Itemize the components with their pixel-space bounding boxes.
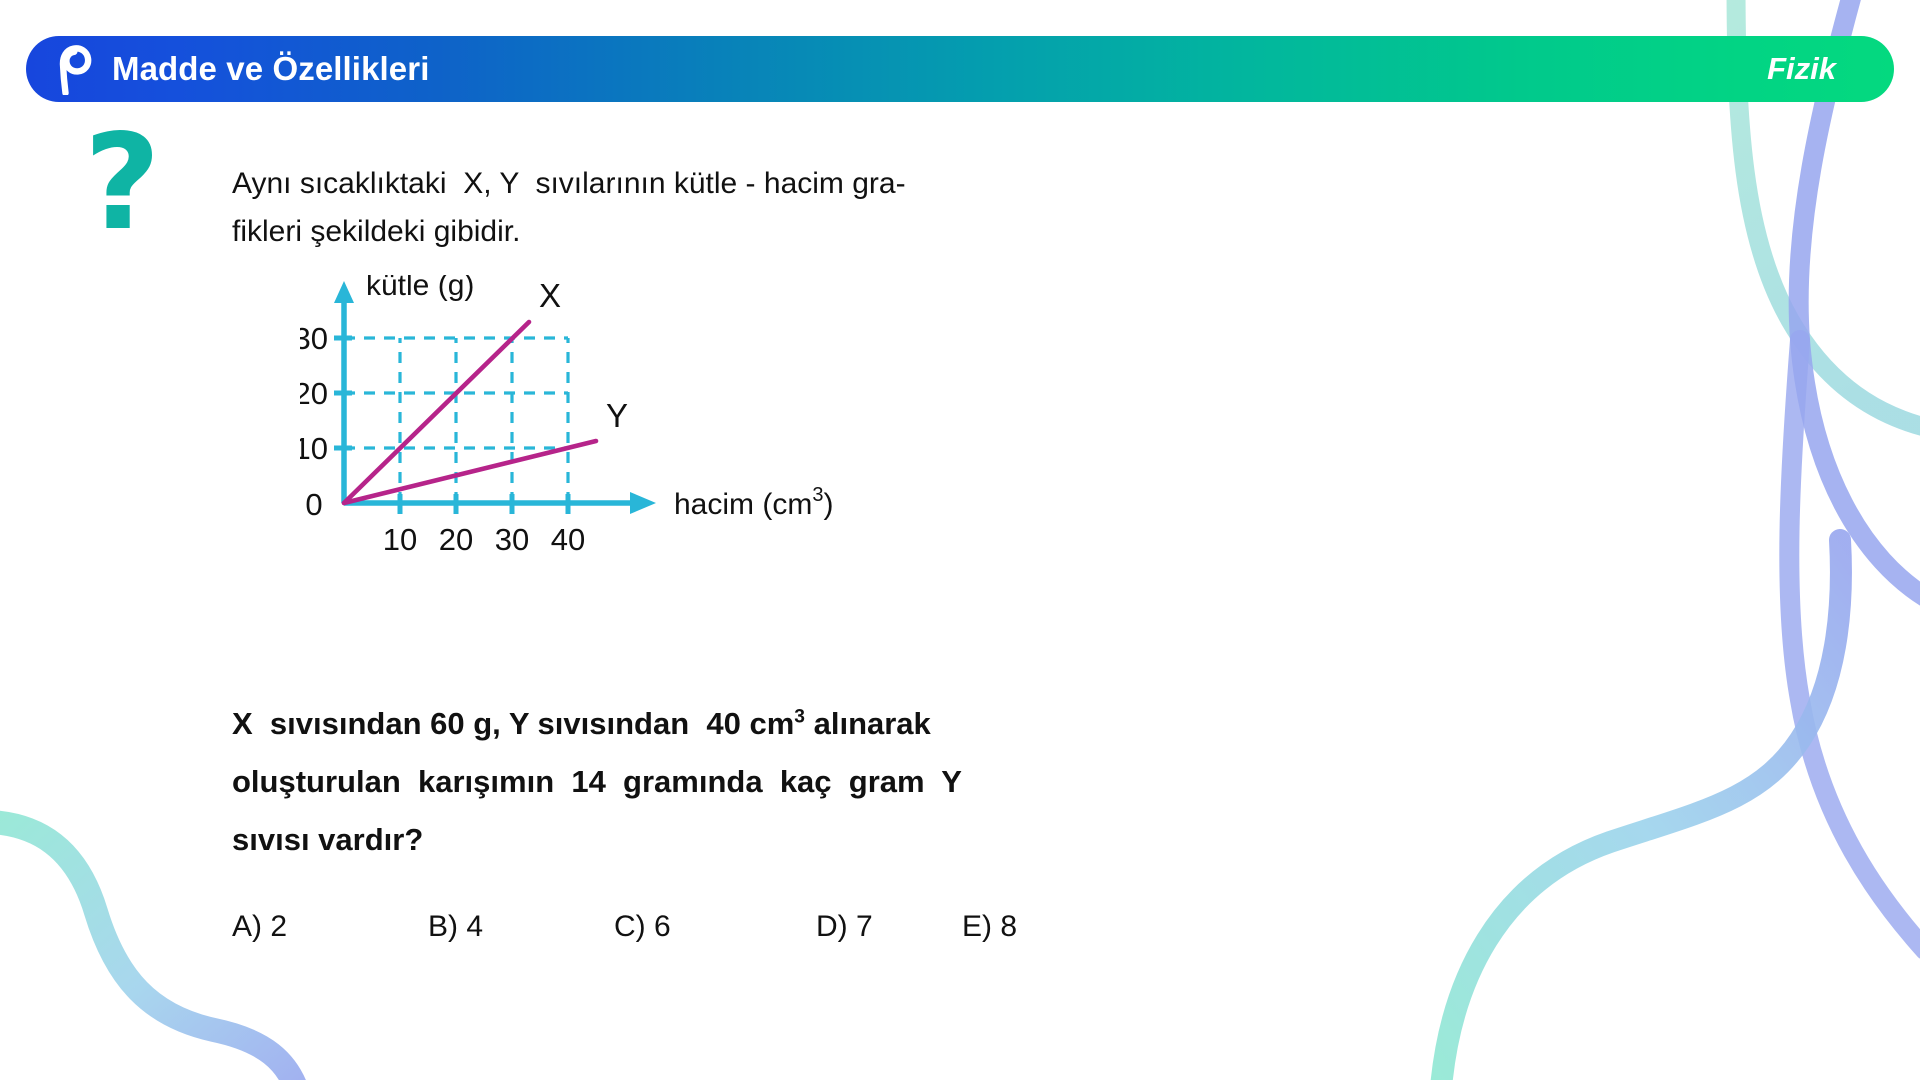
option-d[interactable]: D) 7 (816, 910, 873, 944)
question-intro: Aynı sıcaklıktaki X, Y sıvılarının kütle… (232, 160, 1192, 256)
chart-x-axis (344, 492, 656, 514)
question-body: X sıvısından 60 g, Y sıvısından 40 cm3 a… (232, 695, 1232, 869)
question-line-3: sıvısı vardır? (232, 811, 1232, 869)
question-line-1: X sıvısından 60 g, Y sıvısından 40 cm3 a… (232, 695, 1232, 753)
topic-header-bar: Madde ve Özellikleri Fizik (26, 36, 1894, 102)
chart-line-x (344, 322, 529, 503)
question-mark-icon: ? (84, 128, 174, 268)
chart-canvas: kütle (g) hacim (cm3) 0 10 20 30 10 20 3… (300, 275, 1020, 675)
option-a[interactable]: A) 2 (232, 910, 287, 944)
answer-options: A) 2 B) 4 C) 6 D) 7 E) 8 (232, 910, 1232, 960)
question-line-1-superscript: 3 (794, 707, 805, 728)
decor-curve-bottom-right (1440, 540, 1841, 1080)
chart-xtick-label-20: 20 (439, 522, 473, 557)
chart-ytick-label-10: 10 (300, 431, 328, 466)
question-slide: Madde ve Özellikleri Fizik ? Aynı sıcakl… (0, 0, 1920, 1080)
mass-volume-graph: kütle (g) hacim (cm3) 0 10 20 30 10 20 3… (300, 275, 1020, 675)
decor-curve-right-long (1789, 340, 1920, 950)
question-line-2: oluşturulan karışımın 14 gramında kaç gr… (232, 753, 1232, 811)
chart-xlabel-sup: 3 (812, 484, 823, 506)
chart-series-label-x: X (539, 277, 561, 314)
option-b[interactable]: B) 4 (428, 910, 483, 944)
intro-line-2: fikleri şekildeki gibidir. (232, 208, 1192, 256)
chart-xtick-labels: 10 20 30 40 (383, 522, 585, 557)
chart-xlabel-base: hacim (cm (674, 488, 812, 521)
chart-xtick-label-10: 10 (383, 522, 417, 557)
chart-xlabel: hacim (cm3) (674, 484, 833, 521)
brand-logo[interactable] (26, 43, 112, 95)
option-c[interactable]: C) 6 (614, 910, 671, 944)
subject-badge: Fizik (1767, 51, 1836, 87)
intro-line-1: Aynı sıcaklıktaki X, Y sıvılarının kütle… (232, 160, 1192, 208)
p-logo-icon (51, 43, 97, 95)
question-line-1-b: alınarak (805, 706, 931, 741)
chart-series-label-y: Y (606, 397, 628, 434)
chart-ytick-labels: 10 20 30 (300, 321, 328, 466)
option-e[interactable]: E) 8 (962, 910, 1017, 944)
chart-origin-label: 0 (305, 487, 322, 522)
page-title: Madde ve Özellikleri (112, 50, 429, 88)
chart-line-y (344, 441, 596, 503)
chart-ylabel: kütle (g) (366, 275, 474, 302)
chart-ytick-label-30: 30 (300, 321, 328, 356)
question-line-1-a: X sıvısından 60 g, Y sıvısından 40 cm (232, 706, 794, 741)
chart-ytick-label-20: 20 (300, 376, 328, 411)
chart-xtick-label-40: 40 (551, 522, 585, 557)
chart-xlabel-close: ) (823, 488, 833, 521)
chart-xtick-label-30: 30 (495, 522, 529, 557)
